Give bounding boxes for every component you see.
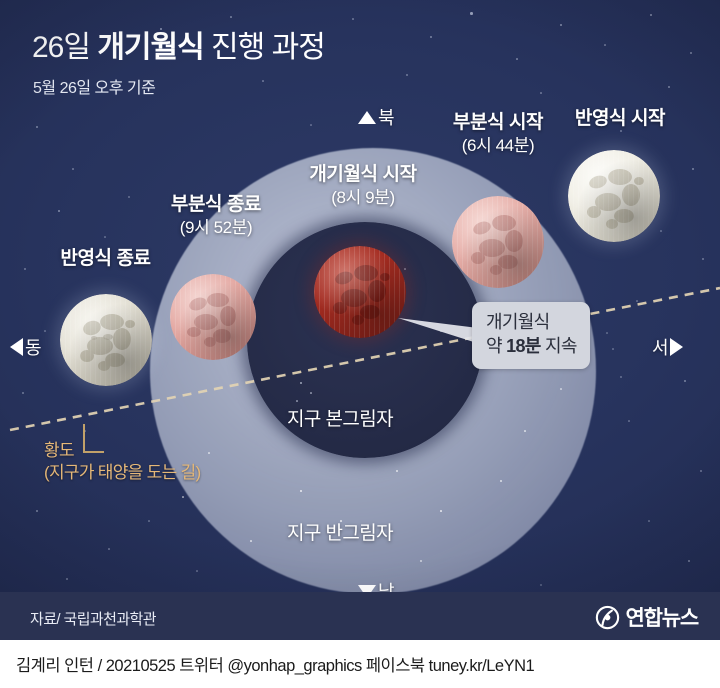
triangle-left-icon — [10, 338, 23, 356]
penumbra-label: 지구 반그림자 — [287, 518, 393, 545]
page-title: 26일 개기월식 진행 과정 — [32, 22, 325, 66]
totality-duration-callout: 개기월식 약 18분 지속 — [472, 302, 590, 369]
title-pre: 26일 — [32, 31, 97, 64]
direction-label: 동 — [25, 334, 41, 360]
callout-number: 18분 — [506, 336, 540, 356]
phase-time: (6시 44분) — [408, 136, 588, 156]
penumbral-end-moon — [60, 294, 152, 386]
phase-name: 반영식 종료 — [18, 248, 193, 270]
umbra-label: 지구 본그림자 — [287, 404, 393, 431]
direction-north: 북 — [358, 104, 394, 130]
yonhap-mark-icon — [595, 605, 620, 630]
yonhap-logo: 연합뉴스 — [595, 602, 698, 632]
night-sky-background: 26일 개기월식 진행 과정 5월 26일 오후 기준 반영식 종료 부분식 종… — [0, 0, 720, 640]
credit-text: 김계리 인턴 / 20210525 트위터 @yonhap_graphics 페… — [16, 652, 534, 676]
source-credit: 자료/ 국립과천과학관 — [30, 608, 156, 629]
page-subtitle: 5월 26일 오후 기준 — [33, 74, 155, 98]
direction-label: 북 — [378, 104, 394, 130]
title-post: 진행 과정 — [204, 31, 325, 64]
triangle-right-icon — [670, 338, 683, 356]
ecliptic-sublabel: (지구가 태양을 도는 길) — [44, 462, 200, 484]
phase-label-penumbral-end: 반영식 종료 — [18, 248, 193, 270]
direction-west: 서 — [652, 334, 683, 360]
phase-label-penumbral-start: 반영식 시작 — [530, 108, 710, 130]
ecliptic-name: 황도 — [44, 440, 200, 462]
phase-name: 개기월식 시작 — [268, 164, 458, 186]
triangle-up-icon — [358, 111, 376, 124]
callout-post: 지속 — [541, 336, 577, 356]
phase-time: (9시 52분) — [126, 218, 306, 238]
callout-line-2: 약 18분 지속 — [486, 335, 577, 359]
direction-label: 서 — [652, 334, 668, 360]
direction-east: 동 — [10, 334, 41, 360]
infographic-page: 26일 개기월식 진행 과정 5월 26일 오후 기준 반영식 종료 부분식 종… — [0, 0, 720, 688]
phase-label-totality: 개기월식 시작 (8시 9분) — [268, 164, 458, 208]
penumbral-start-moon — [568, 150, 660, 242]
callout-pre: 약 — [486, 336, 506, 356]
phase-name: 반영식 시작 — [530, 108, 710, 130]
ecliptic-label: 황도 (지구가 태양을 도는 길) — [44, 440, 200, 484]
partial-start-moon — [452, 196, 544, 288]
callout-line-1: 개기월식 — [486, 311, 577, 335]
partial-end-moon — [170, 274, 256, 360]
credit-bar: 김계리 인턴 / 20210525 트위터 @yonhap_graphics 페… — [0, 640, 720, 688]
totality-moon — [314, 246, 406, 338]
logo-text: 연합뉴스 — [626, 602, 698, 632]
phase-time: (8시 9분) — [268, 188, 458, 208]
title-strong: 개기월식 — [97, 31, 203, 64]
